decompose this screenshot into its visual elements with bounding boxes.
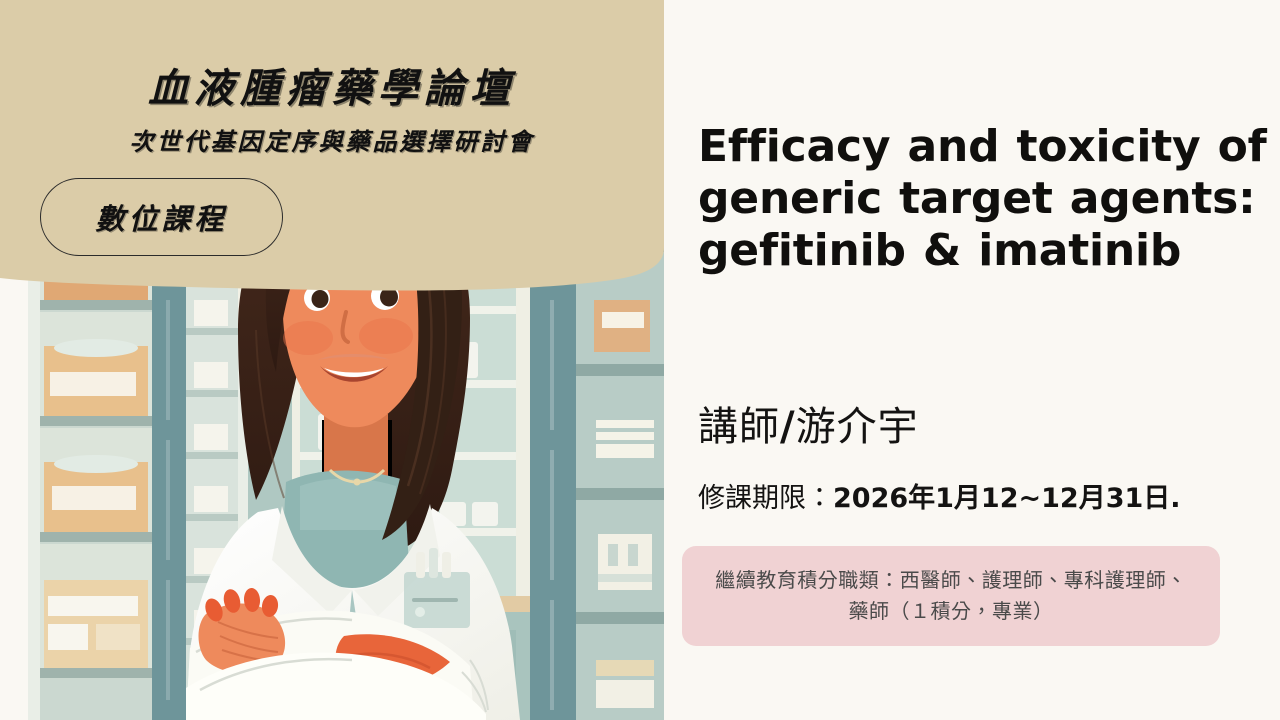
promo-card: 血液腫瘤藥學論壇 次世代基因定序與藥品選擇研討會 數位課程 Efficacy a… [0, 0, 1280, 720]
course-info-panel: Efficacy and toxicity of generic target … [664, 0, 1280, 720]
credit-line-2: 藥師（１積分，專業） [849, 599, 1054, 623]
course-period-line: 修課期限：2026年1月12~12月31日. [698, 476, 1181, 515]
speaker-line: 講師/游介宇 [698, 394, 919, 452]
speaker-separator: / [780, 404, 796, 450]
speaker-name: 游介宇 [796, 404, 919, 450]
course-period-value: 2026年1月12~12月31日. [833, 483, 1181, 514]
digital-course-badge-label: 數位課程 [95, 196, 227, 238]
course-title: Efficacy and toxicity of generic target … [698, 121, 1268, 277]
speaker-label: 講師 [698, 404, 780, 450]
course-period-label: 修課期限： [698, 483, 833, 514]
forum-subtitle: 次世代基因定序與藥品選擇研討會 [0, 122, 664, 157]
credit-eligibility-text: 繼續教育積分職類：西醫師、護理師、專科護理師、 藥師（１積分，專業） [715, 565, 1187, 627]
digital-course-badge[interactable]: 數位課程 [40, 178, 283, 256]
credit-line-1: 繼續教育積分職類：西醫師、護理師、專科護理師、 [715, 568, 1187, 592]
banner-text-group: 血液腫瘤藥學論壇 次世代基因定序與藥品選擇研討會 數位課程 [0, 0, 664, 300]
credit-eligibility-box: 繼續教育積分職類：西醫師、護理師、專科護理師、 藥師（１積分，專業） [682, 546, 1220, 646]
forum-title: 血液腫瘤藥學論壇 [0, 56, 664, 114]
